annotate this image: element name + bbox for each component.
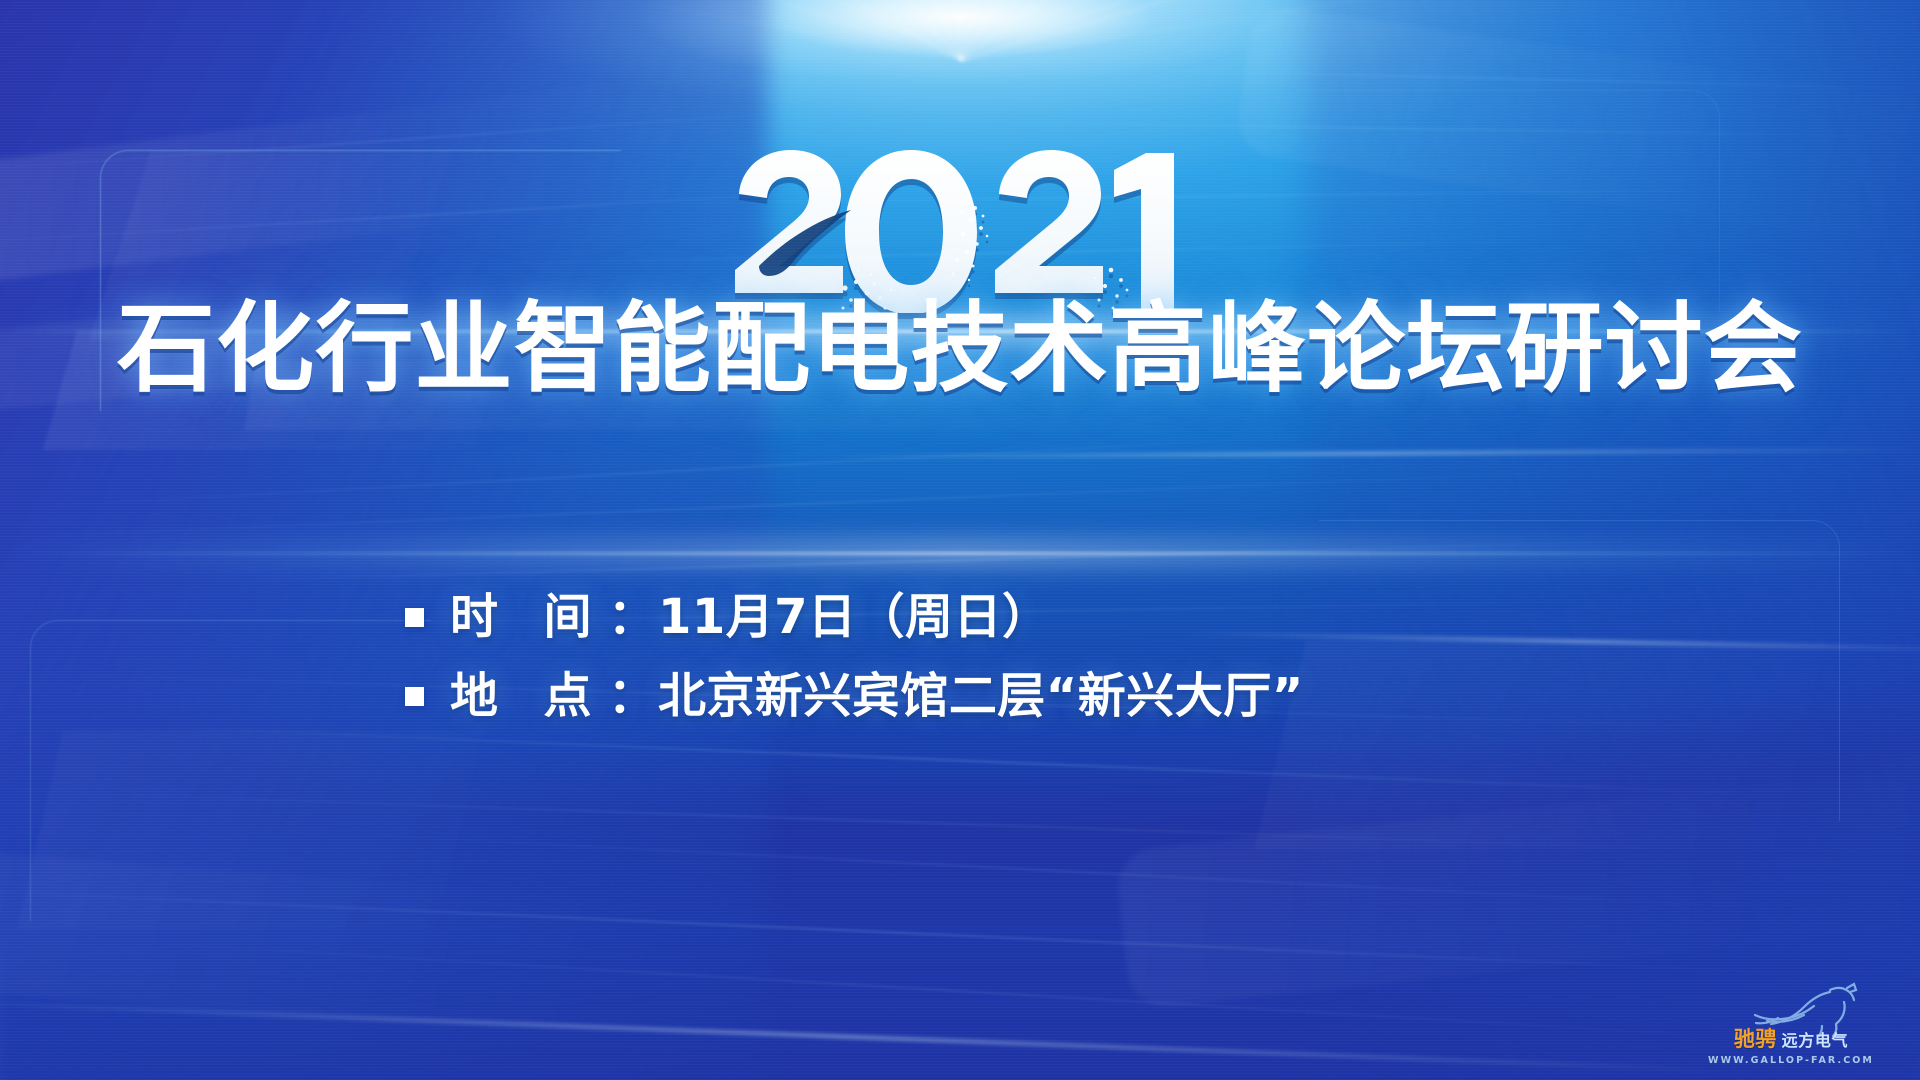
footer-brand-name-main: 驰骋	[1734, 1023, 1777, 1053]
info-label-time: 时 间	[450, 590, 606, 645]
poster-canvas: 石化行业智能配电技术高峰论坛研讨会 时 间 ： 11月7日（周日） 地 点 ： …	[0, 0, 1920, 1080]
info-label-location: 地 点	[450, 669, 606, 724]
footer-brand-name: 驰骋 远方电气	[1734, 1023, 1848, 1053]
info-block: 时 间 ： 11月7日（周日） 地 点 ： 北京新兴宾馆二层“新兴大厅”	[0, 590, 1920, 724]
info-row-time: 时 间 ： 11月7日（周日）	[405, 590, 1515, 645]
square-bullet-icon	[405, 687, 424, 706]
info-separator-time: ：	[608, 590, 656, 645]
info-value-time: 11月7日（周日）	[658, 590, 1051, 645]
footer-brand-name-sub: 远方电气	[1782, 1027, 1849, 1051]
main-title: 石化行业智能配电技术高峰论坛研讨会	[0, 300, 1920, 398]
footer-brand-url: WWW.GALLOP-FAR.COM	[1708, 1055, 1874, 1066]
info-row-location: 地 点 ： 北京新兴宾馆二层“新兴大厅”	[405, 669, 1515, 724]
footer-brand-logo: 驰骋 远方电气 WWW.GALLOP-FAR.COM	[1696, 986, 1886, 1072]
square-bullet-icon	[405, 608, 424, 627]
year-logo	[725, 150, 1195, 310]
poster-content: 石化行业智能配电技术高峰论坛研讨会 时 间 ： 11月7日（周日） 地 点 ： …	[0, 0, 1920, 1080]
info-separator-location: ：	[608, 669, 656, 724]
info-value-location: 北京新兴宾馆二层“新兴大厅”	[658, 669, 1304, 724]
